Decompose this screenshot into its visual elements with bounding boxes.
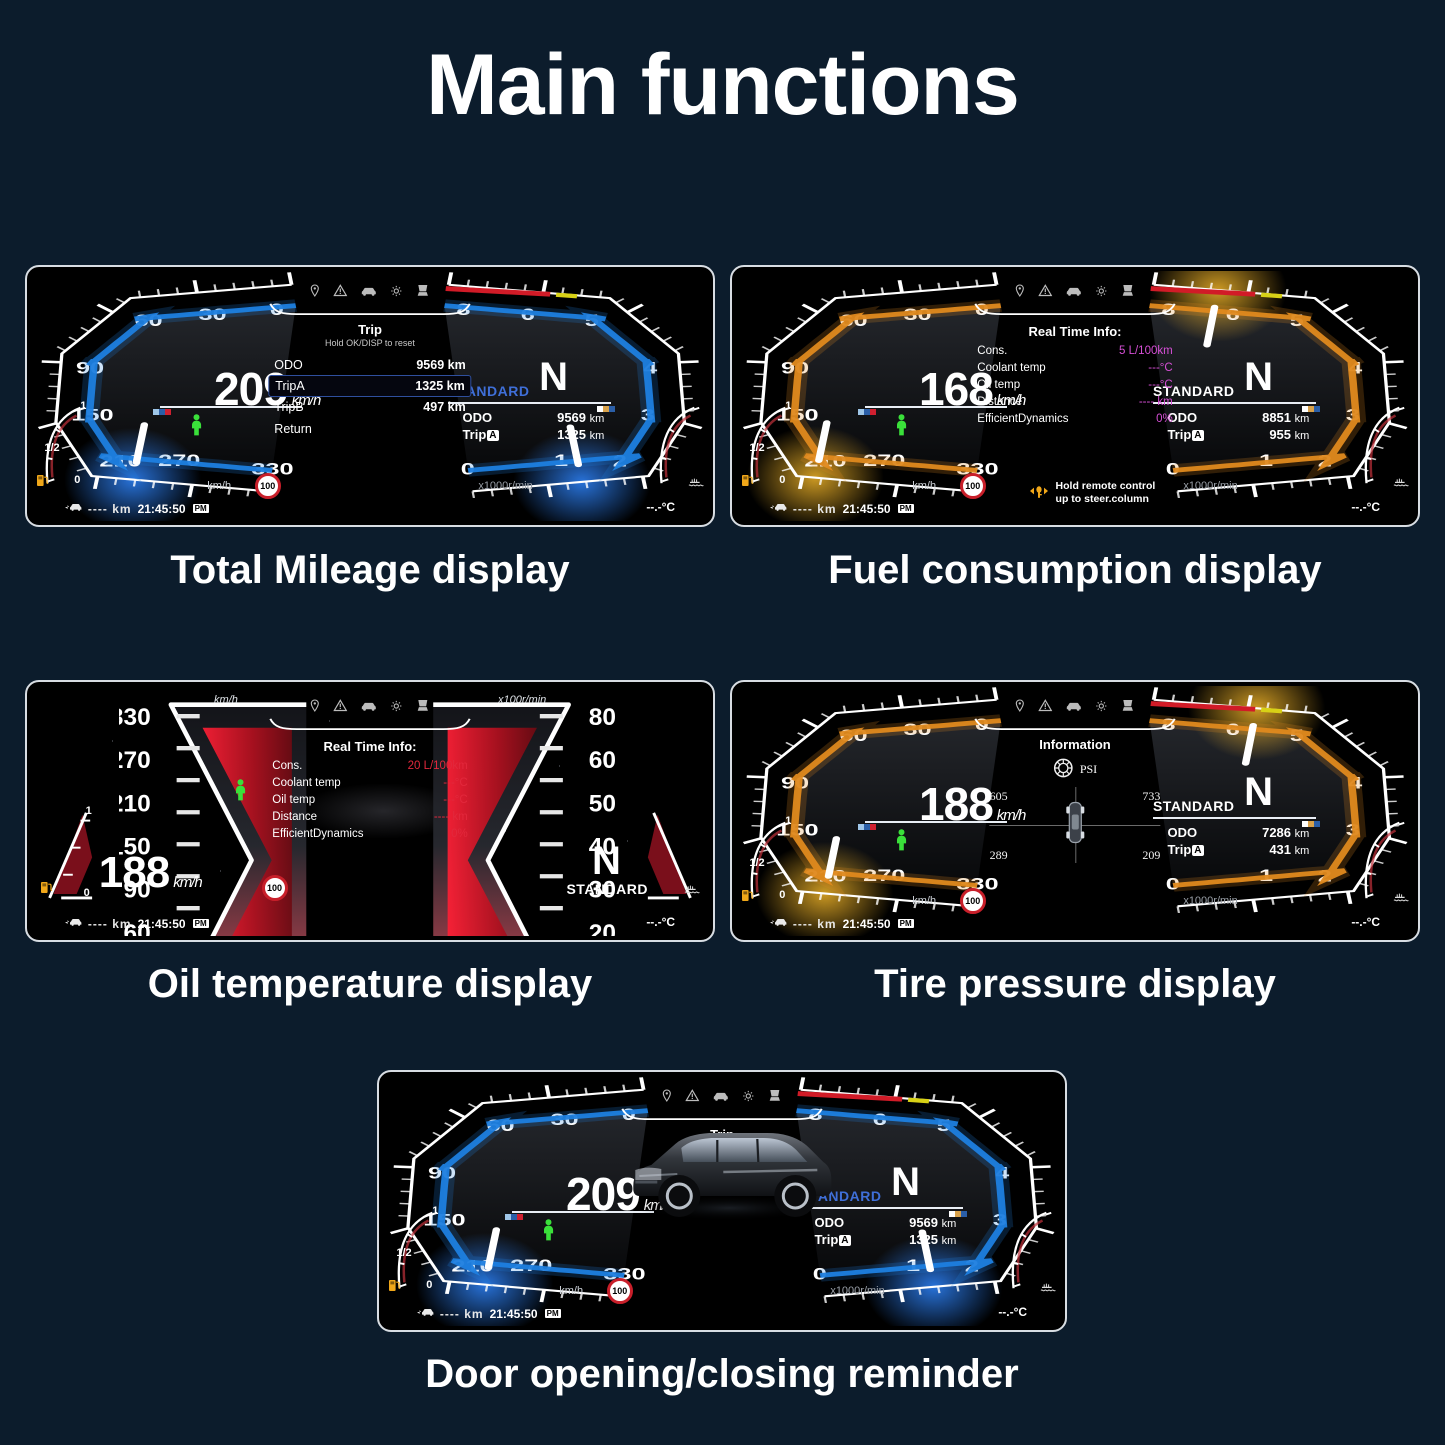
- rpm-unit-footer: x1000r/min: [830, 1285, 884, 1297]
- center-subtitle: Hold OK/DISP to reset: [268, 338, 471, 348]
- seat-icon: [415, 699, 430, 717]
- coolant-icon: [684, 881, 700, 899]
- center-swoosh-divider: [973, 303, 1176, 315]
- realtime-info-row: Oil temp ---°C: [268, 792, 471, 809]
- gear-icon: [1095, 699, 1107, 717]
- right-readout-block: N STANDARD ODO 9569 km TripA 1325 km: [448, 361, 638, 431]
- coolant-temp-gauge: [1353, 817, 1411, 909]
- center-info-panel[interactable]: Information PSI 605 733 289 209: [973, 699, 1176, 866]
- gear-indicator: N: [539, 357, 568, 397]
- trip-unit: km: [590, 430, 605, 442]
- range-and-time: ---- km 21:45:50PM: [417, 1306, 561, 1321]
- coolant-icon: [1393, 889, 1409, 907]
- range-value: ---- km: [440, 1307, 484, 1321]
- gear-divider-line: [448, 402, 611, 404]
- trip-label: Trip: [1167, 427, 1191, 442]
- realtime-label: Coolant temp: [272, 777, 340, 789]
- center-swoosh-divider: [268, 303, 471, 315]
- fuel-gauge: 1 1/2 0: [386, 1207, 444, 1299]
- m-stripe-logo-right: [597, 399, 623, 405]
- warning-triangle-icon: [333, 699, 347, 717]
- realtime-info-row: Distance ---- km: [268, 809, 471, 826]
- realtime-label: Oil temp: [272, 794, 315, 806]
- fuel-tick-one: 1: [86, 805, 92, 817]
- fuel-tick-half: 1/2: [44, 442, 59, 454]
- status-icon-row: [973, 284, 1176, 302]
- odo-unit: km: [942, 1218, 957, 1230]
- rpm-unit-footer: x1000r/min: [478, 480, 532, 492]
- trip-a-badge: A: [1192, 430, 1203, 441]
- odo-unit: km: [1295, 413, 1310, 425]
- realtime-value: ---- km: [434, 811, 468, 823]
- realtime-label: EfficientDynamics: [272, 828, 363, 840]
- trip-row-label: TripA: [275, 379, 304, 393]
- odo-trip-block: ODO 7286 km TripA 431 km: [1162, 824, 1314, 858]
- trip-a-badge: A: [839, 1235, 850, 1246]
- hint-line-1: Hold remote control: [1056, 480, 1156, 492]
- realtime-label: Distance: [977, 396, 1022, 408]
- warning-triangle-icon: [1038, 284, 1052, 302]
- clock-meridiem: PM: [193, 919, 209, 928]
- trip-row-value: 497 km: [423, 400, 465, 414]
- range-value: ---- km: [793, 917, 837, 931]
- realtime-value: 20 L/100km: [408, 760, 468, 772]
- speed-unit-footer: km/h: [912, 480, 936, 492]
- realtime-value: ---°C: [1148, 362, 1172, 374]
- rpm-unit-footer: x1000r/min: [1183, 895, 1237, 907]
- tire-pressure-front-left: 605: [990, 789, 1008, 804]
- realtime-info-row: Cons. 20 L/100km: [268, 758, 471, 775]
- trip-value: 431: [1269, 842, 1291, 857]
- fuel-pump-icon: [388, 1278, 401, 1297]
- status-icon-row: [268, 284, 471, 302]
- realtime-value: ---°C: [443, 794, 467, 806]
- caption-tire-pressure: Tire pressure display: [730, 962, 1420, 1007]
- speed-unit-footer: km/h: [912, 895, 936, 907]
- trip-row-value: 9569 km: [416, 358, 465, 372]
- realtime-label: Cons.: [977, 345, 1007, 357]
- seat-icon: [767, 1089, 782, 1107]
- person-icon: [231, 779, 250, 805]
- svg-text:50: 50: [589, 790, 616, 817]
- car-render-icon: [617, 1110, 827, 1220]
- realtime-value: 5 L/100km: [1119, 345, 1173, 357]
- warning-triangle-icon: [1038, 699, 1052, 717]
- cluster-panel-door-reminder[interactable]: 0306090150210270330 01234568: [377, 1070, 1067, 1332]
- odo-trip-block: ODO 8851 km TripA 955 km: [1162, 409, 1314, 443]
- outside-temperature: --.-°C: [1351, 500, 1380, 514]
- bottom-status-bar: ---- km 21:45:50PM --.-°C: [31, 492, 709, 516]
- car-icon: [712, 1089, 729, 1107]
- caption-oil-temperature: Oil temperature display: [25, 962, 715, 1007]
- clock-time: 21:45:50: [138, 917, 186, 931]
- realtime-label: Oil temp: [977, 379, 1020, 391]
- speed-unit-header: km/h: [214, 694, 238, 706]
- m-stripe-logo: [858, 402, 884, 408]
- m-stripe-logo-right: [949, 1204, 975, 1210]
- fuel-pump-icon: [40, 880, 53, 899]
- car-icon: [360, 284, 377, 302]
- fuel-gauge: 1 1/2 0: [34, 402, 92, 494]
- location-pin-icon: [1014, 699, 1025, 717]
- realtime-info-row: EfficientDynamics 0%: [268, 826, 471, 843]
- range-icon: [65, 916, 82, 931]
- seat-icon: [415, 284, 430, 302]
- trip-unit: km: [1295, 430, 1310, 442]
- realtime-label: Cons.: [272, 760, 302, 772]
- status-icon-row: [268, 699, 471, 717]
- realtime-label: EfficientDynamics: [977, 413, 1068, 425]
- seat-icon: [1120, 284, 1135, 302]
- center-title: Trip: [268, 322, 471, 337]
- svg-text:80: 80: [589, 704, 616, 731]
- center-info-panel[interactable]: Trip Hold OK/DISP to reset ODO 9569 km T…: [268, 284, 471, 441]
- range-and-time: ---- km 21:45:50PM: [770, 501, 914, 516]
- trip-unit: km: [942, 1235, 957, 1247]
- m-stripe-logo-right: [1302, 399, 1328, 405]
- realtime-info-row: Oil temp ---°C: [973, 377, 1176, 394]
- center-swoosh-divider: [973, 718, 1176, 730]
- right-readout-block: N STANDARD ODO 7286 km TripA 431 km: [1153, 776, 1343, 846]
- range-value: ---- km: [793, 502, 837, 516]
- gear-divider-line: [1153, 402, 1316, 404]
- person-icon: [892, 829, 911, 855]
- tpms-car-top-icon: [1065, 800, 1085, 849]
- gear-icon: [742, 1089, 754, 1107]
- range-icon: [770, 916, 787, 931]
- coolant-icon: [688, 474, 704, 492]
- clock-time: 21:45:50: [138, 502, 186, 516]
- center-info-panel[interactable]: Trip: [620, 1089, 823, 1142]
- clock-time: 21:45:50: [490, 1307, 538, 1321]
- rpm-unit-footer: x1000r/min: [1183, 480, 1237, 492]
- range-icon: [417, 1306, 434, 1321]
- cluster-screen: 0306090150210270330 01234568: [736, 271, 1414, 521]
- gear-icon: [390, 699, 402, 717]
- range-and-time: ---- km 21:45:50PM: [65, 501, 209, 516]
- tire-pressure-rear-right: 209: [1142, 848, 1160, 863]
- coolant-icon: [1393, 474, 1409, 492]
- clock-meridiem: PM: [545, 1309, 561, 1318]
- car-icon: [1065, 284, 1082, 302]
- trip-return[interactable]: Return: [268, 417, 471, 441]
- drive-mode-label: STANDARD: [566, 881, 648, 897]
- cluster-panel-fuel-consumption[interactable]: 0306090150210270330 01234568: [730, 265, 1420, 527]
- m-stripe-logo: [858, 817, 884, 823]
- realtime-info-list: Cons. 5 L/100km Coolant temp ---°C Oil t…: [973, 343, 1176, 428]
- cluster-screen: 0306090150210270330 01234568: [736, 686, 1414, 936]
- trip-a-badge: A: [1192, 845, 1203, 856]
- psi-unit-label: PSI: [1080, 762, 1097, 777]
- realtime-info-list: Cons. 20 L/100km Coolant temp ---°C Oil …: [268, 758, 471, 843]
- realtime-value: ---- km: [1139, 396, 1173, 408]
- realtime-value: ---°C: [443, 777, 467, 789]
- cluster-panel-tire-pressure[interactable]: 0306090150210270330 01234568: [730, 680, 1420, 942]
- m-stripe-logo: [153, 402, 179, 408]
- car-icon: [360, 699, 377, 717]
- caption-fuel-consumption: Fuel consumption display: [730, 548, 1420, 593]
- odo-unit: km: [1295, 828, 1310, 840]
- odo-trip-block: ODO 9569 km TripA 1325 km: [457, 409, 609, 443]
- speed-unit-footer: km/h: [207, 480, 231, 492]
- trip-row-label: ODO: [274, 358, 302, 372]
- fuel-tick-half: 1/2: [396, 1247, 411, 1259]
- trip-label: Trip: [814, 1232, 838, 1247]
- coolant-temp-gauge: [648, 402, 706, 494]
- bottom-status-bar: ---- km 21:45:50PM --.-°C: [383, 1297, 1061, 1321]
- coolant-temp-gauge: [1000, 1207, 1058, 1299]
- svg-text:210: 210: [119, 790, 151, 817]
- rpm-unit-header: x100r/min: [498, 694, 546, 706]
- speed-unit: km/h: [173, 874, 202, 891]
- clock-meridiem: PM: [193, 504, 209, 513]
- fuel-tick-zero: 0: [779, 889, 785, 901]
- m-stripe-logo: [505, 1207, 531, 1213]
- center-title: Real Time Info:: [973, 324, 1176, 339]
- gear-indicator: N: [1244, 772, 1273, 812]
- cluster-screen: 0306090150210270330 010203040506080 km/h…: [31, 686, 709, 936]
- realtime-info-row: Cons. 5 L/100km: [973, 343, 1176, 360]
- person-icon: [539, 1219, 558, 1245]
- center-info-panel[interactable]: Real Time Info: Cons. 20 L/100km Coolant…: [268, 699, 471, 843]
- outside-temperature: --.-°C: [646, 500, 675, 514]
- fuel-tick-zero: 0: [84, 887, 90, 899]
- trip-row[interactable]: ODO 9569 km: [268, 355, 471, 375]
- speed-readout: 188km/h: [99, 851, 202, 895]
- svg-text:330: 330: [119, 704, 151, 731]
- cluster-panel-total-mileage[interactable]: 0306090150210270330 01234568: [25, 265, 715, 527]
- outside-temperature: --.-°C: [998, 1305, 1027, 1319]
- fuel-tick-zero: 0: [426, 1279, 432, 1291]
- fuel-tick-one: 1: [785, 815, 791, 827]
- clock-meridiem: PM: [898, 504, 914, 513]
- tire-pressure-front-right: 733: [1142, 789, 1160, 804]
- range-value: ---- km: [88, 502, 132, 516]
- trip-value: 955: [1269, 427, 1291, 442]
- center-info-panel[interactable]: Real Time Info: Cons. 5 L/100km Coolant …: [973, 284, 1176, 428]
- tire-icon: [1053, 758, 1073, 781]
- outside-temperature: --.-°C: [1351, 915, 1380, 929]
- range-icon: [770, 501, 787, 516]
- tpms-widget[interactable]: PSI 605 733 289 209: [973, 758, 1176, 866]
- realtime-label: Coolant temp: [977, 362, 1045, 374]
- odo-value: 8851: [1262, 410, 1291, 425]
- speed-unit-footer: km/h: [559, 1285, 583, 1297]
- warning-triangle-icon: [333, 284, 347, 302]
- gear-indicator: N: [891, 1162, 920, 1202]
- realtime-value: 0%: [451, 828, 468, 840]
- realtime-label: Distance: [272, 811, 317, 823]
- cluster-panel-oil-temperature[interactable]: 0306090150210270330 010203040506080 km/h…: [25, 680, 715, 942]
- center-title: Real Time Info:: [268, 739, 471, 754]
- fuel-gauge: 1 0: [38, 809, 96, 901]
- outside-temperature: --.-°C: [646, 915, 675, 929]
- page-title: Main functions: [0, 36, 1445, 135]
- trip-a-badge: A: [487, 430, 498, 441]
- cluster-screen: 0306090150210270330 01234568: [31, 271, 709, 521]
- trip-value: 1325: [557, 427, 586, 442]
- fuel-gauge: 1 1/2 0: [739, 402, 797, 494]
- range-value: ---- km: [88, 917, 132, 931]
- location-pin-icon: [1014, 284, 1025, 302]
- fuel-pump-icon: [741, 473, 754, 492]
- fuel-tick-one: 1: [785, 400, 791, 412]
- trip-row[interactable]: TripB 497 km: [268, 397, 471, 417]
- clock-meridiem: PM: [898, 919, 914, 928]
- gear-indicator: N: [1244, 357, 1273, 397]
- odo-value: 9569: [909, 1215, 938, 1230]
- fuel-tick-zero: 0: [74, 474, 80, 486]
- trip-unit: km: [1295, 845, 1310, 857]
- coolant-temp-gauge: [1353, 402, 1411, 494]
- gear-icon: [1095, 284, 1107, 302]
- location-pin-icon: [661, 1089, 672, 1107]
- fuel-tick-zero: 0: [779, 474, 785, 486]
- fuel-tick-half: 1/2: [749, 857, 764, 869]
- location-pin-icon: [309, 699, 320, 717]
- cluster-screen: 0306090150210270330 01234568: [383, 1076, 1061, 1326]
- car-icon: [1065, 699, 1082, 717]
- range-and-time: ---- km 21:45:50PM: [770, 916, 914, 931]
- trip-row-label: TripB: [274, 400, 303, 414]
- gear-icon: [390, 284, 402, 302]
- trip-value: 1325: [909, 1232, 938, 1247]
- caption-door-reminder: Door opening/closing reminder: [377, 1352, 1067, 1397]
- tire-pressure-rear-left: 289: [990, 848, 1008, 863]
- person-icon: [892, 414, 911, 440]
- fuel-tick-one: 1: [432, 1205, 438, 1217]
- range-icon: [65, 501, 82, 516]
- odo-value: 9569: [557, 410, 586, 425]
- bottom-status-bar: ---- km 21:45:50PM --.-°C: [736, 907, 1414, 931]
- bottom-status-bar: ---- km 21:45:50PM --.-°C: [31, 907, 709, 931]
- center-swoosh-divider: [268, 718, 471, 730]
- status-icon-row: [973, 699, 1176, 717]
- warning-triangle-icon: [685, 1089, 699, 1107]
- speed-value: 188: [99, 848, 169, 897]
- clock-time: 21:45:50: [843, 502, 891, 516]
- gear-divider-line: [1153, 817, 1316, 819]
- person-icon: [187, 414, 206, 440]
- location-pin-icon: [309, 284, 320, 302]
- fuel-pump-icon: [741, 888, 754, 907]
- fuel-gauge: 1 1/2 0: [739, 817, 797, 909]
- realtime-info-row: EfficientDynamics 0%: [973, 411, 1176, 428]
- realtime-info-row: Distance ---- km: [973, 394, 1176, 411]
- odo-unit: km: [590, 413, 605, 425]
- fuel-pump-icon: [36, 473, 49, 492]
- trip-row[interactable]: TripA 1325 km: [268, 375, 471, 397]
- coolant-icon: [1040, 1279, 1056, 1297]
- poster-root: Main functions 0306090150210270330: [0, 0, 1445, 1445]
- fuel-tick-one: 1: [80, 400, 86, 412]
- clock-time: 21:45:50: [843, 917, 891, 931]
- bottom-status-bar: ---- km 21:45:50PM --.-°C: [736, 492, 1414, 516]
- trip-list: ODO 9569 km TripA 1325 km TripB 497 km R…: [268, 355, 471, 441]
- seat-icon: [1120, 699, 1135, 717]
- svg-text:60: 60: [589, 747, 616, 774]
- caption-total-mileage: Total Mileage display: [25, 548, 715, 593]
- gear-indicator: N: [592, 841, 621, 881]
- realtime-info-row: Coolant temp ---°C: [973, 360, 1176, 377]
- realtime-value: ---°C: [1148, 379, 1172, 391]
- trip-row-value: 1325 km: [415, 379, 464, 393]
- speed-limit-sign: 100: [262, 875, 288, 901]
- fuel-tick-half: 1/2: [749, 442, 764, 454]
- m-stripe-logo-right: [1302, 814, 1328, 820]
- realtime-value: 0%: [1156, 413, 1173, 425]
- coolant-temp-gauge: [644, 809, 702, 901]
- svg-text:270: 270: [119, 747, 151, 774]
- odo-value: 7286: [1262, 825, 1291, 840]
- status-icon-row: [620, 1089, 823, 1107]
- realtime-info-row: Coolant temp ---°C: [268, 775, 471, 792]
- range-and-time: ---- km 21:45:50PM: [65, 916, 209, 931]
- center-title: Information: [973, 737, 1176, 752]
- right-readout-block: N STANDARD ODO 8851 km TripA 955 km: [1153, 361, 1343, 431]
